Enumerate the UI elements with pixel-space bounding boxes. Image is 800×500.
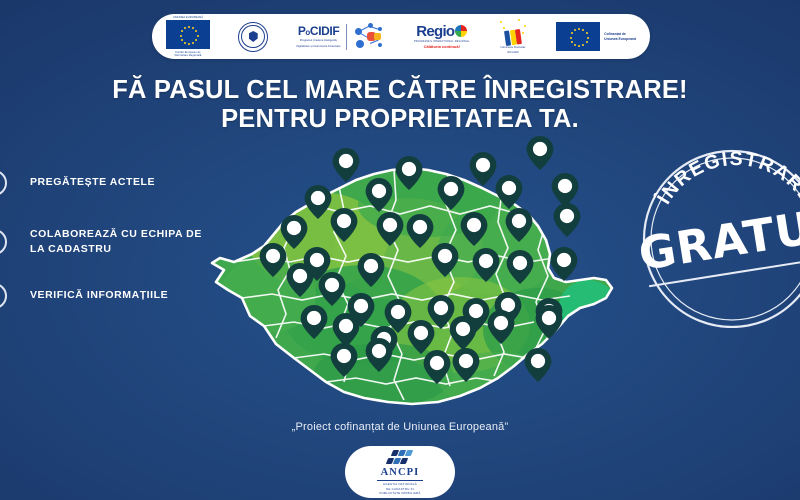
regio-title: Regio [416,24,454,39]
pocidif-subtitle-1: Programul Creștere Inteligentă, [300,39,337,43]
map-pin-icon [554,203,581,237]
list-item: VERIFICĂ INFORMAȚIILE [0,279,215,313]
step-bullet-icon [0,170,7,196]
eu-regional-fund-logo: UNIUNEA EUROPEANĂ Fondul European de Dez… [166,18,210,56]
headline-line-2: PENTRU PROPRIETATEA TA. [0,105,800,134]
headline-line-1: FĂ PASUL CEL MARE CĂTRE ÎNREGISTRARE! [112,76,688,104]
eu-fund-caption-2: Dezvoltare Regională [175,54,202,57]
steps-list: PREGĂTEȘTE ACTELE COLABOREAZĂ CU ECHIPA … [0,166,215,335]
list-item: COLABOREAZĂ CU ECHIPA DE LA CADASTRU [0,225,215,259]
tricolor-burst-icon [498,19,528,45]
regio-colorwheel-icon [455,25,467,37]
romania-map [198,130,628,420]
pocidif-title: PoCIDIF [298,25,339,37]
step-bullet-icon [0,229,7,255]
eu-cofinanced-logo: Cofinanțat de Uniunea Europeană [556,18,636,56]
regio-subtitle-1: PROGRAMUL OPERAȚIONAL REGIONAL [414,40,470,43]
step-bullet-icon [0,283,7,309]
divider [377,480,423,481]
ancpi-name: ANCPI [381,468,420,479]
government-seal-icon [238,22,268,52]
ancpi-mark-icon [387,449,413,466]
map-pin-icon [527,136,554,170]
stamp-arc-text: ÎNREGISTRARE [651,148,800,209]
map-pin-icon [525,348,552,382]
structural-caption-2: 2014-2020 [507,51,518,54]
regio-subtitle-2: Călătoria continuă! [424,44,460,49]
map-pin-icon [333,148,360,182]
pocidif-logo: PoCIDIF Programul Creștere Inteligentă, … [296,18,385,56]
list-item: PREGĂTEȘTE ACTELE [0,166,215,200]
eu-cofinanced-caption-2: Uniunea Europeană [604,37,636,42]
map-pin-icon [551,247,578,281]
eu-flag-icon [556,22,600,51]
romanian-government-seal-logo [238,18,268,56]
structural-caption-1: Instrumente Structurale [500,46,525,49]
ancpi-subtitle-3: PUBLICITATE IMOBILIARĂ [379,491,420,495]
step-label: VERIFICĂ INFORMAȚIILE [30,288,168,303]
map-pin-icon [552,173,579,207]
structural-instruments-logo: Instrumente Structurale 2014-2020 [498,18,528,56]
network-graph-icon [352,23,386,51]
pocidif-subtitle-2: Digitalizare și Instrumente Financiare [296,45,340,49]
map-pin-icon [470,152,497,186]
step-label: COLABOREAZĂ CU ECHIPA DE LA CADASTRU [30,227,215,257]
promo-banner: UNIUNEA EUROPEANĂ Fondul European de Dez… [0,0,800,500]
partner-logo-bar: UNIUNEA EUROPEANĂ Fondul European de Dez… [152,14,650,59]
status-badge: ÎNREGISTRARE GRATUITĂ [640,143,800,328]
eu-flag-icon [166,20,210,49]
eu-fund-caption-top: UNIUNEA EUROPEANĂ [173,16,203,19]
ancpi-logo: ANCPI AGENȚIA NAȚIONALĂ DE CADASTRU ȘI P… [345,446,455,498]
romania-map-svg [198,130,628,420]
crest-icon [249,31,258,42]
step-label: PREGĂTEȘTE ACTELE [30,175,155,190]
page-title: FĂ PASUL CEL MARE CĂTRE ÎNREGISTRARE! PE… [0,76,800,133]
regio-logo: Regio PROGRAMUL OPERAȚIONAL REGIONAL Căl… [414,18,470,56]
footnote-text: „Proiect cofinanțat de Uniunea Europeană… [0,421,800,433]
divider [346,24,347,50]
